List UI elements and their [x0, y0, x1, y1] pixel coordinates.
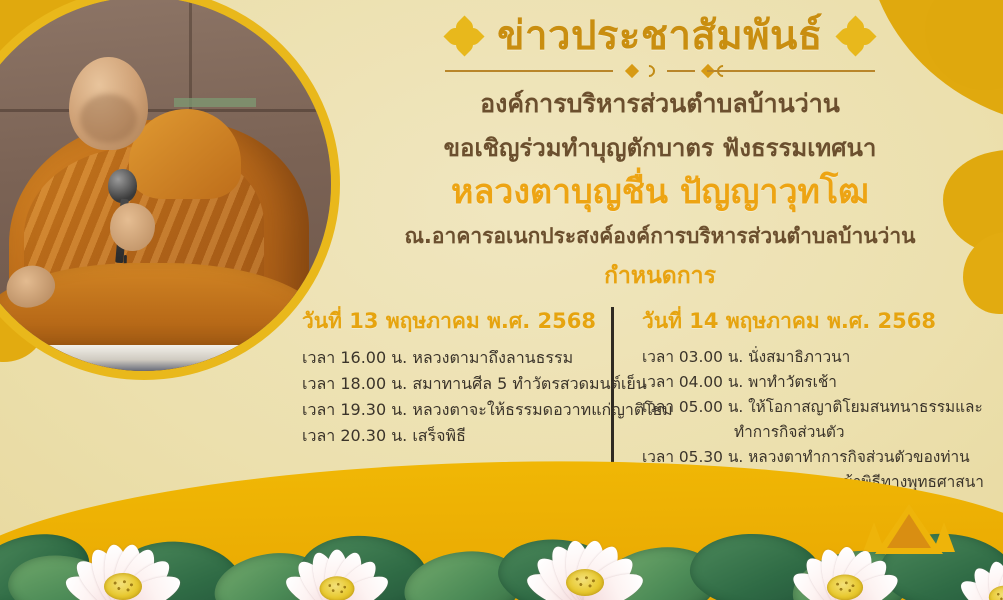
organization-name: องค์การบริหารส่วนตำบลบ้านว่าน — [330, 87, 990, 121]
ornamental-divider — [445, 63, 875, 79]
day1-heading: วันที่ 13 พฤษภาคม พ.ศ. 2568 — [302, 305, 605, 338]
schedule-item: เวลา 19.30 น. หลวงตาจะให้ธรรมดอวาทแก่ญาต… — [302, 397, 605, 423]
invitation-line: ขอเชิญร่วมทำบุญตักบาตร ฟังธรรมเทศนา — [330, 132, 990, 164]
monk-face-shadow — [80, 94, 136, 143]
schedule-column-day1: วันที่ 13 พฤษภาคม พ.ศ. 2568 เวลา 16.00 น… — [250, 305, 605, 449]
lotus-flower — [48, 516, 198, 600]
microphone-head-icon — [108, 169, 136, 203]
schedule-item: เวลา 20.30 น. เสร็จพิธี — [302, 423, 605, 449]
schedule-item: เวลา 04.00 น. พาทำวัตรเช้า — [642, 370, 980, 395]
photo-wall-accent — [174, 98, 256, 107]
day1-items: เวลา 16.00 น. หลวงตามาถึงลานธรรมเวลา 18.… — [302, 345, 605, 449]
quatrefoil-ornament-left-icon — [447, 19, 481, 53]
venue-line: ณ.อาคารอเนกประสงค์องค์การบริหารส่วนตำบลบ… — [330, 222, 990, 250]
schedule-item: เวลา 03.00 น. นั่งสมาธิภาวนา — [642, 345, 980, 370]
quatrefoil-ornament-right-icon — [839, 19, 873, 53]
title-row: ข่าวประชาสัมพันธ์ — [330, 14, 990, 58]
agenda-label: กำหนดการ — [330, 258, 990, 294]
schedule-item: เวลา 05.00 น. ให้โอกาสญาติโยมสนทนาธรรมแล… — [642, 395, 980, 420]
lotus-flower — [268, 524, 406, 600]
lotus-flower — [774, 520, 917, 600]
lotus-flower — [510, 512, 660, 600]
lotus-decoration-strip — [0, 480, 1003, 600]
poster-canvas: ข่าวประชาสัมพันธ์ องค์การบริหารส่วนตำบลบ… — [0, 0, 1003, 600]
schedule-item: เวลา 16.00 น. หลวงตามาถึงลานธรรม — [302, 345, 605, 371]
schedule-item: เวลา 18.00 น. สมาทานศีล 5 ทำวัตรสวดมนต์เ… — [302, 371, 605, 397]
lotus-flower — [941, 537, 1003, 600]
schedule-item: ทำการกิจส่วนตัว — [642, 420, 980, 445]
monk-name: หลวงตาบุญชื่น ปัญญาวุทโฒ — [330, 172, 990, 213]
page-title: ข่าวประชาสัมพันธ์ — [497, 14, 823, 58]
day2-heading: วันที่ 14 พฤษภาคม พ.ศ. 2568 — [642, 305, 980, 338]
header-block: ข่าวประชาสัมพันธ์ องค์การบริหารส่วนตำบลบ… — [330, 14, 990, 294]
